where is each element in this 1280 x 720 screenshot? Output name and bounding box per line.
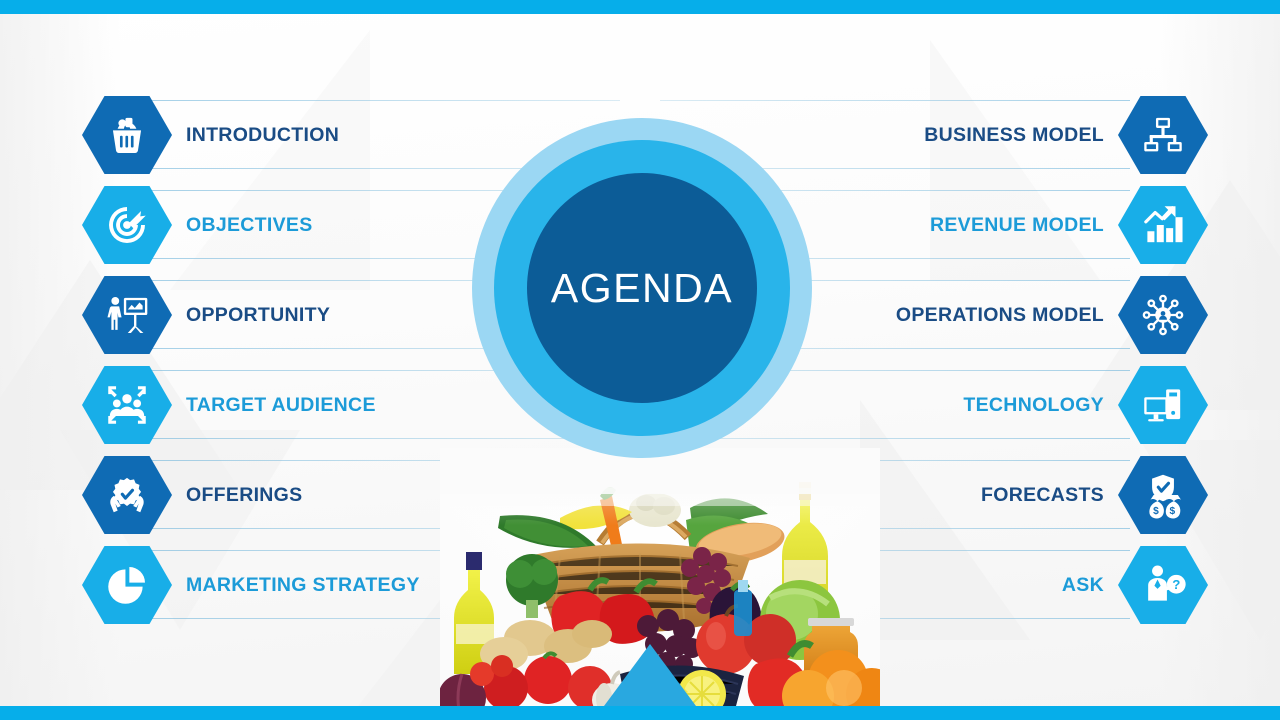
svg-text:$: $ bbox=[1170, 506, 1176, 517]
agenda-item-label: INTRODUCTION bbox=[186, 124, 339, 147]
presenter-chart-icon[interactable] bbox=[82, 276, 172, 354]
svg-text:$: $ bbox=[1153, 506, 1159, 517]
target-dart-icon[interactable] bbox=[82, 186, 172, 264]
agenda-item-objectives[interactable]: OBJECTIVES bbox=[82, 180, 313, 270]
person-question-icon[interactable]: ? bbox=[1118, 546, 1208, 624]
agenda-item-label: REVENUE MODEL bbox=[930, 214, 1104, 237]
desktop-computer-icon[interactable] bbox=[1118, 366, 1208, 444]
agenda-item-label: OPPORTUNITY bbox=[186, 304, 330, 327]
agenda-item-label: OFFERINGS bbox=[186, 484, 302, 507]
bar-chart-growth-icon[interactable] bbox=[1118, 186, 1208, 264]
left-agenda-column: INTRODUCTION OBJECTIVES OPPORTUNITY TARG… bbox=[0, 0, 600, 720]
agenda-item-offerings[interactable]: OFFERINGS bbox=[82, 450, 302, 540]
agenda-item-revenue-model[interactable]: REVENUE MODEL bbox=[930, 180, 1208, 270]
blue-triangle-accent bbox=[604, 644, 696, 706]
agenda-item-forecasts[interactable]: $$ FORECASTS bbox=[981, 450, 1208, 540]
agenda-item-operations-model[interactable]: OPERATIONS MODEL bbox=[896, 270, 1208, 360]
right-agenda-column: BUSINESS MODEL REVENUE MODEL OPERATIONS … bbox=[680, 0, 1280, 720]
agenda-item-ask[interactable]: ? ASK bbox=[1062, 540, 1208, 630]
shopping-basket-icon[interactable] bbox=[82, 96, 172, 174]
agenda-item-label: OBJECTIVES bbox=[186, 214, 313, 237]
org-hierarchy-icon[interactable] bbox=[1118, 96, 1208, 174]
svg-text:?: ? bbox=[1172, 577, 1180, 592]
agenda-item-marketing-strategy[interactable]: MARKETING STRATEGY bbox=[82, 540, 420, 630]
agenda-item-target-audience[interactable]: TARGET AUDIENCE bbox=[82, 360, 376, 450]
agenda-slide: AGENDA INTRODUCTION OBJECTIVES OPPORTUNI… bbox=[0, 0, 1280, 720]
network-nodes-icon[interactable] bbox=[1118, 276, 1208, 354]
hands-gear-check-icon[interactable] bbox=[82, 456, 172, 534]
agenda-item-label: BUSINESS MODEL bbox=[924, 124, 1104, 147]
agenda-item-technology[interactable]: TECHNOLOGY bbox=[963, 360, 1208, 450]
pie-chart-icon[interactable] bbox=[82, 546, 172, 624]
agenda-item-introduction[interactable]: INTRODUCTION bbox=[82, 90, 339, 180]
agenda-item-opportunity[interactable]: OPPORTUNITY bbox=[82, 270, 330, 360]
bottom-accent-bar bbox=[0, 706, 1280, 720]
agenda-item-label: FORECASTS bbox=[981, 484, 1104, 507]
agenda-item-label: MARKETING STRATEGY bbox=[186, 574, 420, 597]
top-accent-bar bbox=[0, 0, 1280, 14]
audience-focus-icon[interactable] bbox=[82, 366, 172, 444]
agenda-item-label: TECHNOLOGY bbox=[963, 394, 1104, 417]
agenda-item-label: OPERATIONS MODEL bbox=[896, 304, 1104, 327]
money-bags-shield-icon[interactable]: $$ bbox=[1118, 456, 1208, 534]
agenda-item-label: ASK bbox=[1062, 574, 1104, 597]
agenda-item-label: TARGET AUDIENCE bbox=[186, 394, 376, 417]
agenda-item-business-model[interactable]: BUSINESS MODEL bbox=[924, 90, 1208, 180]
